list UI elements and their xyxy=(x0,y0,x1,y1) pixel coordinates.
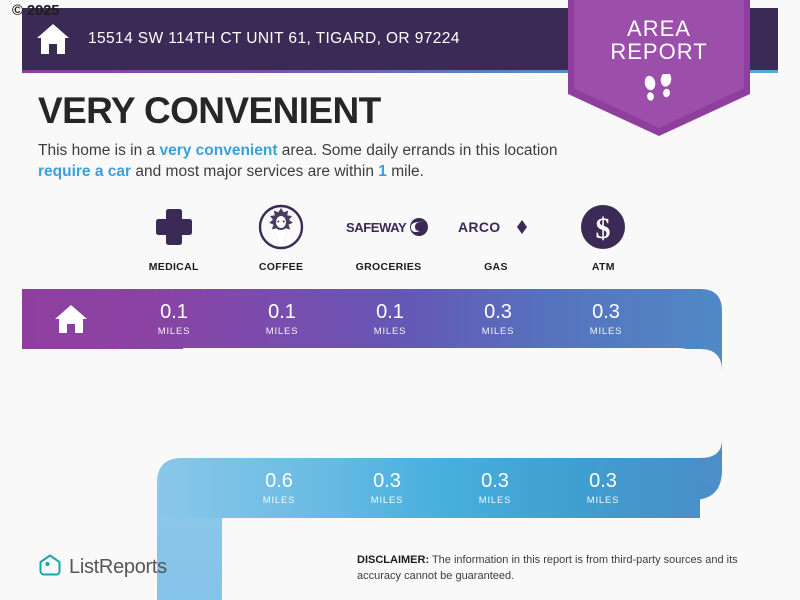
distance-value: 0.1 xyxy=(268,302,296,322)
distance-value: 0.3 xyxy=(484,302,512,322)
distance-value: 0.3 xyxy=(592,302,620,322)
distance-value: 0.1 xyxy=(376,302,404,322)
distance-cell-groceries: 0.1 MILES xyxy=(336,289,444,349)
disclaimer: DISCLAIMER: The information in this repo… xyxy=(357,553,777,585)
distance-value: 0.1 xyxy=(160,302,188,322)
listreports-house-tag-icon xyxy=(38,553,62,582)
distance-unit: MILES xyxy=(266,326,299,337)
distance-cell-cleaners: 0.3 MILES xyxy=(441,458,549,518)
distance-unit: MILES xyxy=(158,326,191,337)
footprints-icon xyxy=(639,74,679,113)
listreports-logo: ListReports xyxy=(38,553,167,582)
disclaimer-label: DISCLAIMER: xyxy=(357,554,429,566)
distance-unit: MILES xyxy=(482,326,515,337)
distance-cell-medical: 0.1 MILES xyxy=(120,289,228,349)
badge-line-2: REPORT xyxy=(610,41,707,64)
distance-unit: MILES xyxy=(263,495,296,506)
distance-unit: MILES xyxy=(479,495,512,506)
area-report-page: 15514 SW 114TH CT UNIT 61, TIGARD, OR 97… xyxy=(0,0,800,600)
home-origin-cell xyxy=(22,289,120,349)
distance-unit: MILES xyxy=(374,326,407,337)
distance-cell-movie-theater: 0.6 MILES xyxy=(225,458,333,518)
distance-row-2: 0.6 MILES 0.3 MILES 0.3 MILES 0.3 MILES xyxy=(225,458,657,518)
distance-unit: MILES xyxy=(587,495,620,506)
distance-value: 0.6 xyxy=(265,471,293,491)
listreports-wordmark: ListReports xyxy=(69,556,167,579)
distance-cell-gas: 0.3 MILES xyxy=(444,289,552,349)
distance-unit: MILES xyxy=(371,495,404,506)
home-icon xyxy=(53,303,89,335)
distance-cell-coffee: 0.1 MILES xyxy=(228,289,336,349)
distance-value: 0.3 xyxy=(589,471,617,491)
distance-value: 0.3 xyxy=(481,471,509,491)
distance-cell-pharmacy: 0.3 MILES xyxy=(333,458,441,518)
badge-line-1: AREA xyxy=(627,18,691,41)
distance-unit: MILES xyxy=(590,326,623,337)
distance-cell-atm: 0.3 MILES xyxy=(552,289,660,349)
distance-value: 0.3 xyxy=(373,471,401,491)
distance-cell-gym: 0.3 MILES xyxy=(549,458,657,518)
copyright-watermark: © 2025 xyxy=(12,2,59,19)
distance-row-1: 0.1 MILES 0.1 MILES 0.1 MILES 0.3 MILES … xyxy=(120,289,660,349)
